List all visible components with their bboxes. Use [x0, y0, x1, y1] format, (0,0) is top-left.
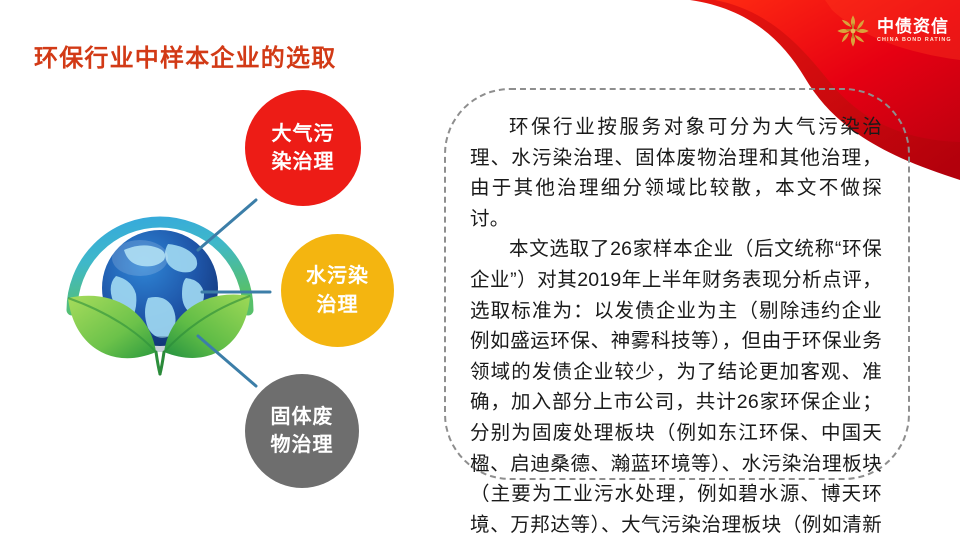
paragraph-2: 本文选取了26家样本企业（后文统称“环保企业”）对其2019年上半年财务表现分析…: [470, 234, 882, 540]
bubble-solid-line1: 固体废: [271, 403, 334, 431]
bubble-solid-line2: 物治理: [271, 431, 334, 459]
page-title: 环保行业中样本企业的选取: [34, 38, 336, 73]
bubble-air-pollution[interactable]: 大气污 染治理: [245, 90, 361, 206]
description-panel: 环保行业按服务对象可分为大气污染治理、水污染治理、固体废物治理和其他治理，由于其…: [444, 88, 910, 480]
flower-emblem-icon: [836, 14, 870, 48]
paragraph-1: 环保行业按服务对象可分为大气污染治理、水污染治理、固体废物治理和其他治理，由于其…: [470, 112, 882, 234]
bubble-air-line1: 大气污: [272, 120, 335, 148]
slide-canvas: 中债资信 CHINA BOND RATING 环保行业中样本企业的选取: [0, 0, 960, 540]
brand-logo: 中债资信 CHINA BOND RATING: [836, 14, 952, 48]
bubble-water-line2: 治理: [317, 291, 359, 319]
panel-body: 环保行业按服务对象可分为大气污染治理、水污染治理、固体废物治理和其他治理，由于其…: [470, 112, 882, 540]
bubble-solid-waste[interactable]: 固体废 物治理: [245, 374, 359, 488]
logo-name-en: CHINA BOND RATING: [877, 38, 952, 43]
bubble-water-line1: 水污染: [306, 262, 369, 290]
logo-name-cn: 中债资信: [877, 18, 952, 35]
bubble-water-pollution[interactable]: 水污染 治理: [281, 234, 394, 347]
globe-leaves-graphic: [52, 192, 272, 392]
bubble-air-line2: 染治理: [272, 148, 335, 176]
